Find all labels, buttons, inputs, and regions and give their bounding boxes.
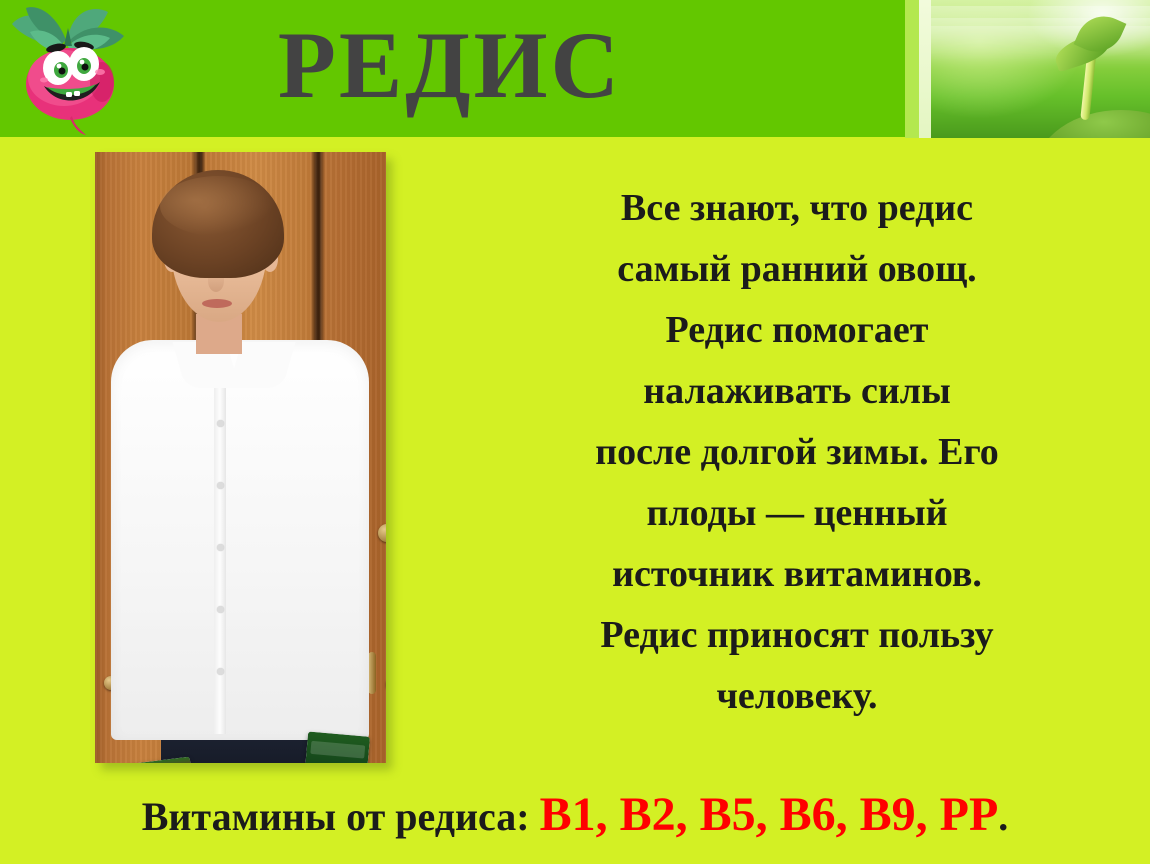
boy-figure [95, 152, 386, 763]
body-paragraph: Все знают, что редис самый ранний овощ. … [492, 178, 1102, 727]
body-line: плоды — ценный [492, 483, 1102, 544]
sprout-strip-inner [919, 0, 931, 138]
seed-packet [298, 732, 370, 763]
body-line: источник витаминов. [492, 544, 1102, 605]
body-line: налаживать силы [492, 361, 1102, 422]
white-shirt [111, 340, 369, 740]
sprout-photo [905, 0, 1150, 138]
hair [152, 170, 284, 278]
vitamins-list: В1, В2, В5, В6, В9, РР [540, 788, 999, 841]
boy-photo [95, 152, 386, 763]
shirt-button [217, 606, 224, 613]
vitamins-label: Витамины от редиса: [142, 794, 530, 839]
body-line: после долгой зимы. Его [492, 422, 1102, 483]
shirt-button [217, 420, 224, 427]
vitamins-line: Витамины от редиса: В1, В2, В5, В6, В9, … [0, 790, 1150, 842]
shirt-button [217, 482, 224, 489]
shirt-placket [214, 374, 226, 734]
slide: РЕДИС [0, 0, 1150, 864]
seed-packet-header [305, 732, 370, 763]
page-title: РЕДИС [0, 16, 900, 116]
body-line: самый ранний овощ. [492, 239, 1102, 300]
body-line: человеку. [492, 666, 1102, 727]
vitamins-period: . [998, 794, 1008, 839]
mouth [202, 299, 232, 308]
sprout-strip-outer [905, 0, 919, 138]
body-line: Редис помогает [492, 300, 1102, 361]
sprout-photo-image [931, 0, 1150, 138]
shirt-button [217, 544, 224, 551]
seed-packet-label [310, 741, 365, 759]
body-line: Все знают, что редис [492, 178, 1102, 239]
body-line: Редис приносят пользу [492, 605, 1102, 666]
shirt-button [217, 668, 224, 675]
